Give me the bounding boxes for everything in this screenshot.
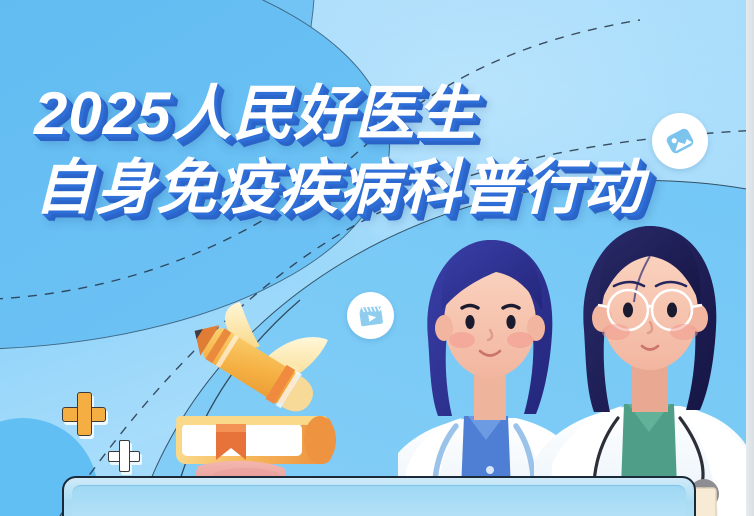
desk-panel-inner [72,485,686,516]
image-icon [663,124,697,158]
title-line-1: 2025人民好医生 [34,84,644,144]
plus-white-icon [108,440,140,472]
poster-title: 2025人民好医生 自身免疫疾病科普行动 [34,84,644,218]
poster-root: 2025人民好医生 自身免疫疾病科普行动 [0,0,754,516]
clapperboard-icon [356,301,386,331]
video-badge[interactable] [347,292,394,339]
title-line-2: 自身免疫疾病科普行动 [34,158,644,218]
desk-panel [62,476,696,516]
photo-badge[interactable] [652,113,708,169]
right-edge-strip [746,0,754,516]
pencil-and-book-illustration [168,300,354,500]
doctor-right [534,226,746,516]
book [176,416,336,464]
doctors-illustration [398,218,746,516]
plus-orange-icon [62,392,106,436]
